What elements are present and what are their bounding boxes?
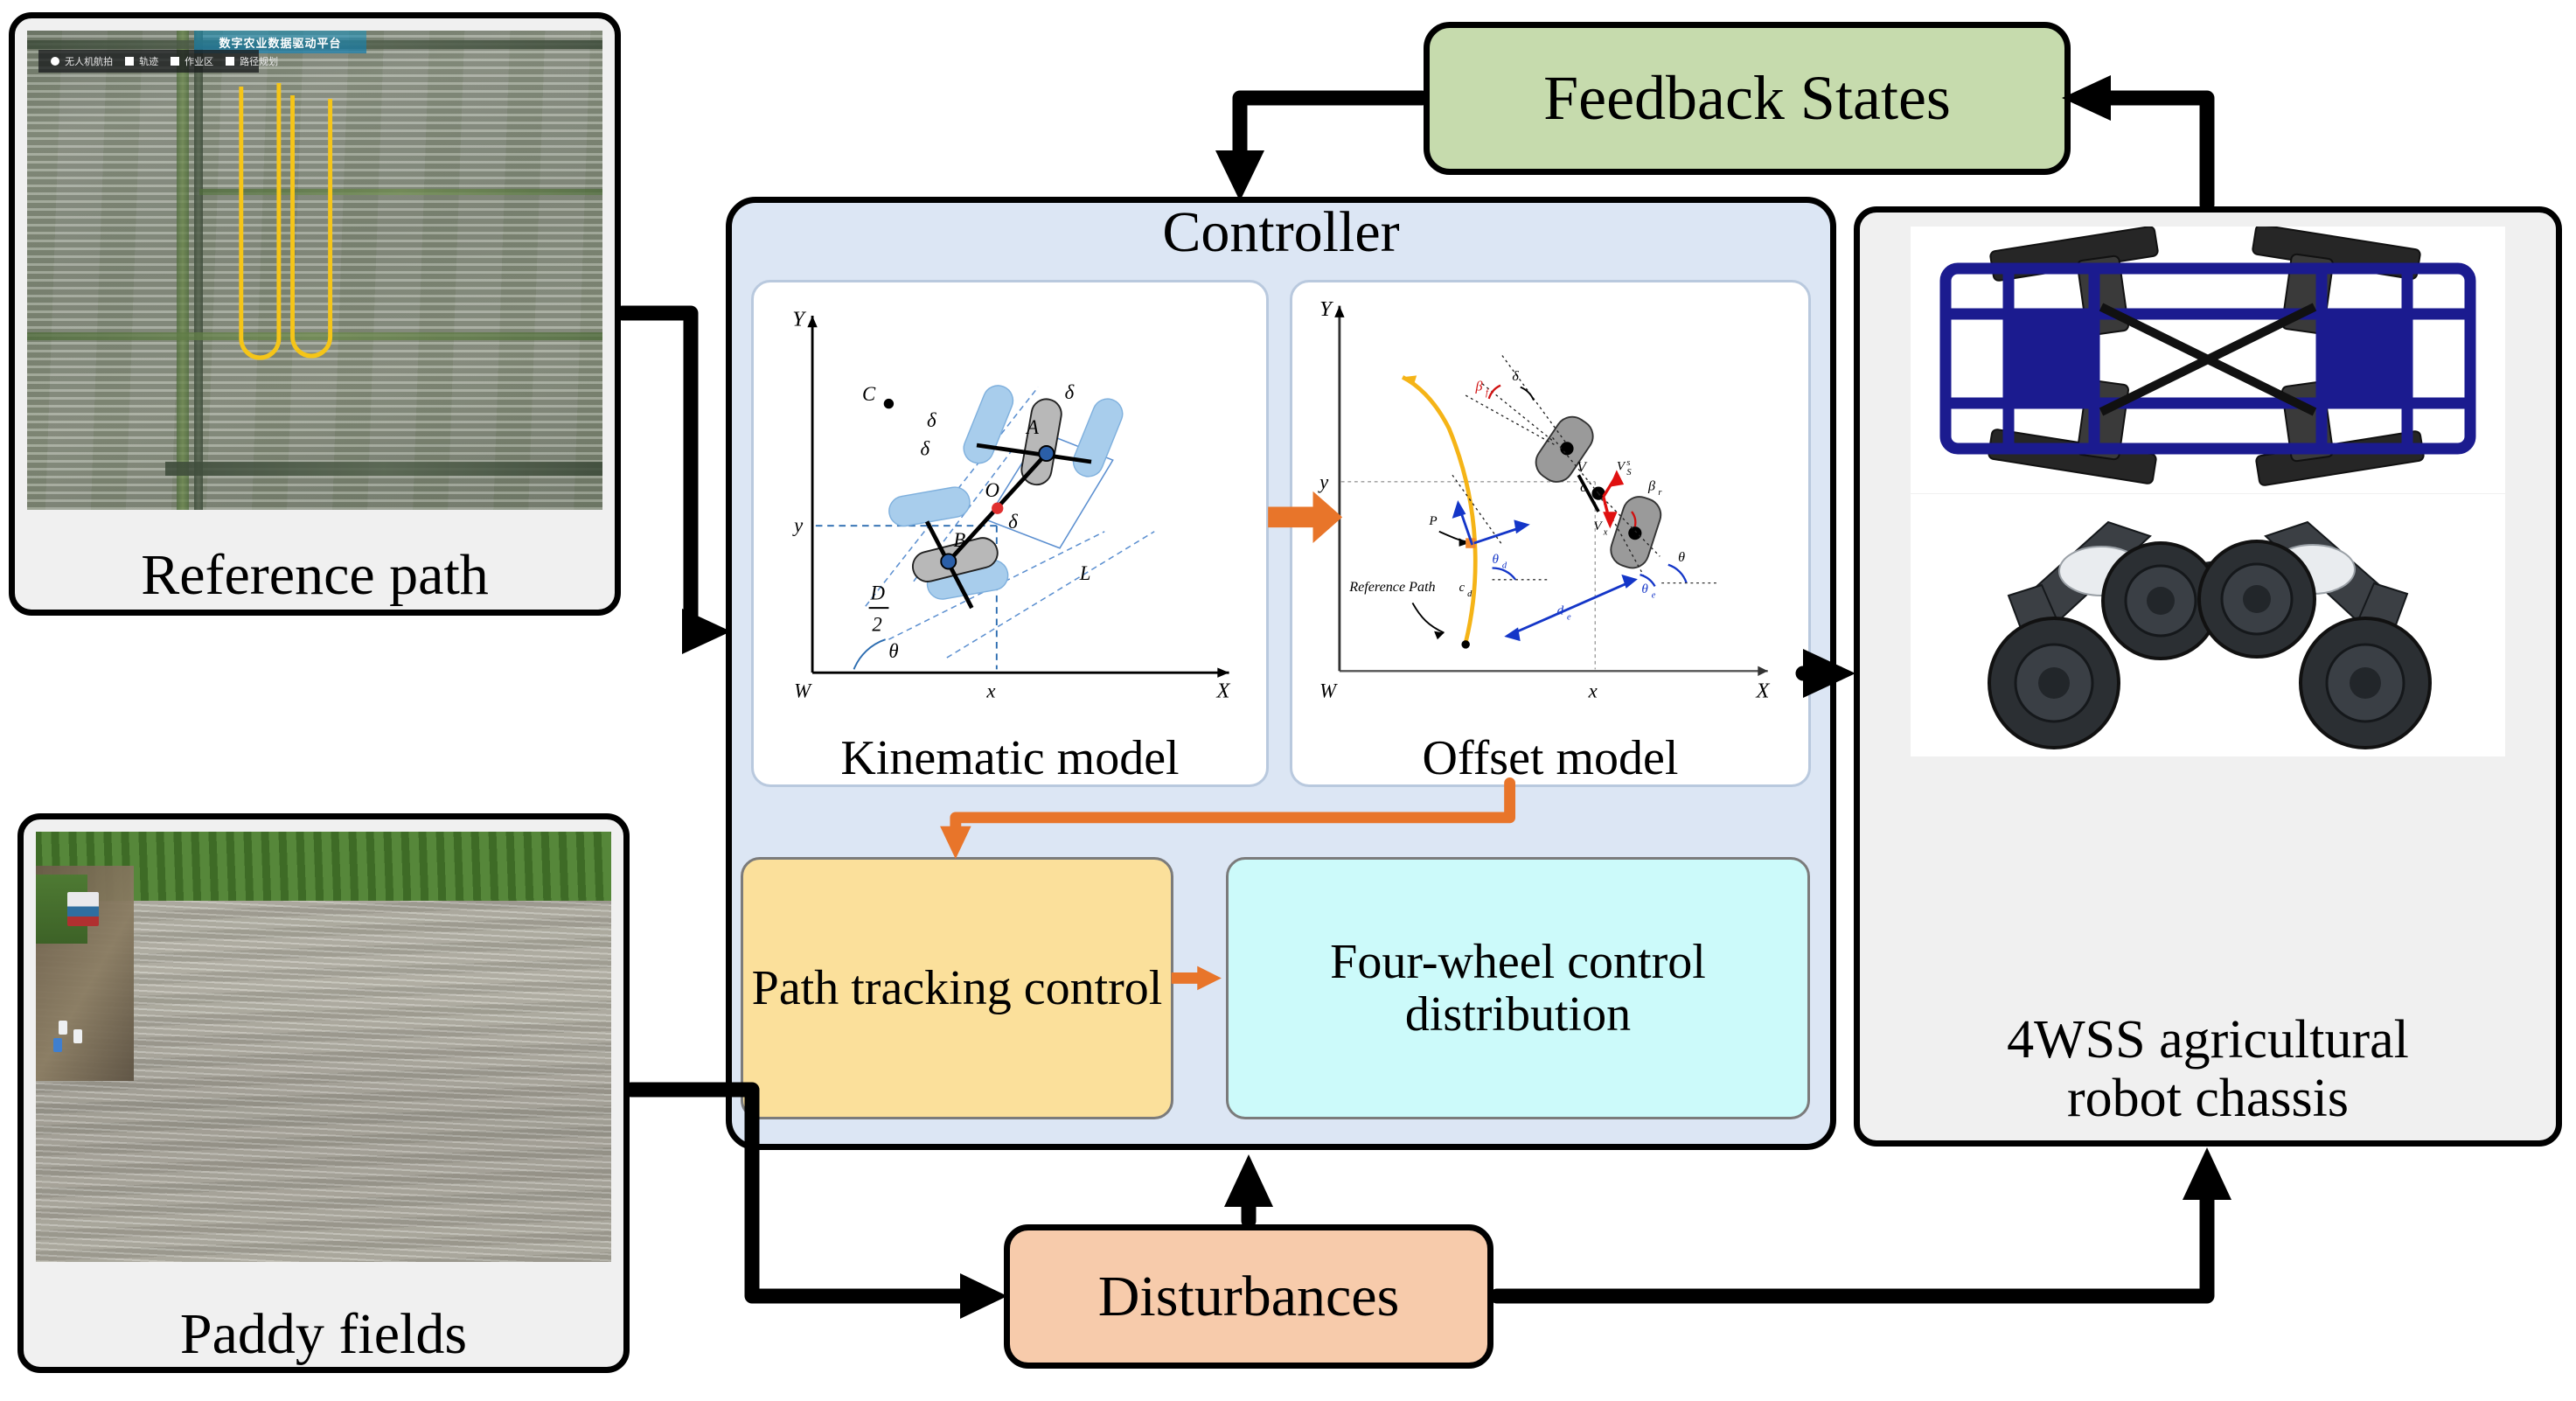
svg-text:c: c [1459, 581, 1466, 595]
svg-text:δ: δ [927, 409, 936, 431]
feedback-states-label: Feedback States [1543, 62, 1951, 135]
paddy-fields-panel[interactable]: Paddy fields [17, 813, 630, 1373]
robot-chassis-caption-line2: robot chassis [1860, 1070, 2556, 1128]
reference-path-caption: Reference path [15, 547, 615, 604]
disturbances-block[interactable]: Disturbances [1004, 1224, 1493, 1369]
svg-text:X: X [1215, 680, 1230, 703]
svg-text:V: V [1577, 458, 1588, 475]
svg-text:y: y [1318, 470, 1329, 492]
kinematic-model-figure: Y X W x y [754, 282, 1266, 714]
paddy-fields-caption: Paddy fields [24, 1306, 623, 1363]
svg-text:x: x [1588, 680, 1598, 702]
robot-chassis-caption-line1: 4WSS agricultural [1860, 1011, 2556, 1070]
svg-text:x: x [985, 680, 995, 702]
svg-text:θ: θ [1641, 582, 1648, 596]
offset-model-card[interactable]: Y X W x y Reference Path P c d [1290, 280, 1811, 787]
svg-text:P: P [1428, 513, 1437, 528]
svg-text:S: S [1626, 468, 1632, 477]
svg-text:D: D [870, 582, 886, 604]
svg-text:δ: δ [1512, 369, 1519, 384]
path-tracking-control-block[interactable]: Path tracking control [741, 857, 1173, 1119]
svg-text:W: W [794, 680, 812, 702]
svg-text:e: e [1567, 612, 1571, 622]
svg-text:Y: Y [792, 307, 806, 331]
svg-text:Reference Path: Reference Path [1348, 580, 1435, 595]
edge-refpath-to-controller [623, 313, 691, 631]
edge-disturbances-to-chassis [1497, 1189, 2207, 1296]
svg-text:V: V [1593, 519, 1603, 533]
svg-text:V: V [1617, 459, 1626, 474]
path-tracking-control-label: Path tracking control [752, 962, 1163, 1014]
svg-text:s: s [1626, 458, 1630, 468]
svg-text:W: W [1319, 680, 1338, 702]
robot-chassis-caption: 4WSS agricultural robot chassis [1860, 1011, 2556, 1128]
four-wheel-control-distribution-label: Four-wheel control distribution [1236, 936, 1800, 1042]
edge-chassis-to-feedback [2102, 98, 2207, 205]
chassis-iso-view [1911, 494, 2505, 756]
svg-text:d: d [1557, 603, 1564, 618]
offset-model-figure: Y X W x y Reference Path P c d [1292, 282, 1808, 714]
svg-text:d: d [1502, 561, 1507, 571]
chassis-top-view [1911, 227, 2505, 493]
svg-text:y: y [792, 514, 804, 536]
svg-text:x: x [1603, 528, 1608, 538]
kinematic-model-caption: Kinematic model [754, 734, 1266, 783]
svg-text:θ: θ [1493, 552, 1500, 567]
svg-text:θ: θ [1678, 550, 1685, 565]
paddy-fields-photo [36, 832, 611, 1262]
edge-feedback-to-controller [1240, 98, 1422, 171]
svg-text:o: o [1580, 480, 1587, 495]
svg-text:C: C [862, 383, 876, 405]
feedback-states-block[interactable]: Feedback States [1424, 22, 2071, 175]
svg-text:B: B [953, 529, 965, 551]
svg-text:β: β [1647, 478, 1655, 493]
four-wheel-control-distribution-block[interactable]: Four-wheel control distribution [1226, 857, 1810, 1119]
reference-path-photo: 数字农业数据驱动平台 无人机航拍 轨迹 作业区 路径规划 [27, 31, 602, 510]
offset-model-caption: Offset model [1292, 734, 1808, 783]
tractor-icon [67, 892, 99, 926]
svg-text:L: L [1079, 562, 1091, 584]
svg-text:δ: δ [1008, 511, 1018, 533]
svg-text:β: β [1475, 379, 1483, 394]
svg-text:A: A [1025, 416, 1039, 438]
robot-chassis-panel[interactable]: 4WSS agricultural robot chassis [1854, 206, 2562, 1147]
svg-text:θ: θ [888, 640, 898, 662]
controller-title: Controller [732, 201, 1830, 265]
svg-text:δ: δ [1065, 381, 1075, 403]
reference-path-overlay [27, 31, 602, 510]
reference-path-panel[interactable]: 数字农业数据驱动平台 无人机航拍 轨迹 作业区 路径规划 Reference p… [9, 12, 621, 616]
svg-text:e: e [1652, 591, 1656, 601]
svg-text:δ: δ [920, 437, 929, 459]
svg-text:O: O [985, 479, 999, 501]
svg-text:r: r [1658, 488, 1662, 498]
kinematic-model-card[interactable]: Y X W x y [751, 280, 1269, 787]
svg-text:X: X [1755, 680, 1770, 703]
svg-text:d: d [1467, 589, 1472, 599]
svg-text:2: 2 [872, 614, 881, 636]
svg-text:Y: Y [1319, 297, 1333, 321]
controller-panel[interactable]: Controller Y X W x y [726, 197, 1836, 1150]
disturbances-label: Disturbances [1098, 1264, 1400, 1330]
